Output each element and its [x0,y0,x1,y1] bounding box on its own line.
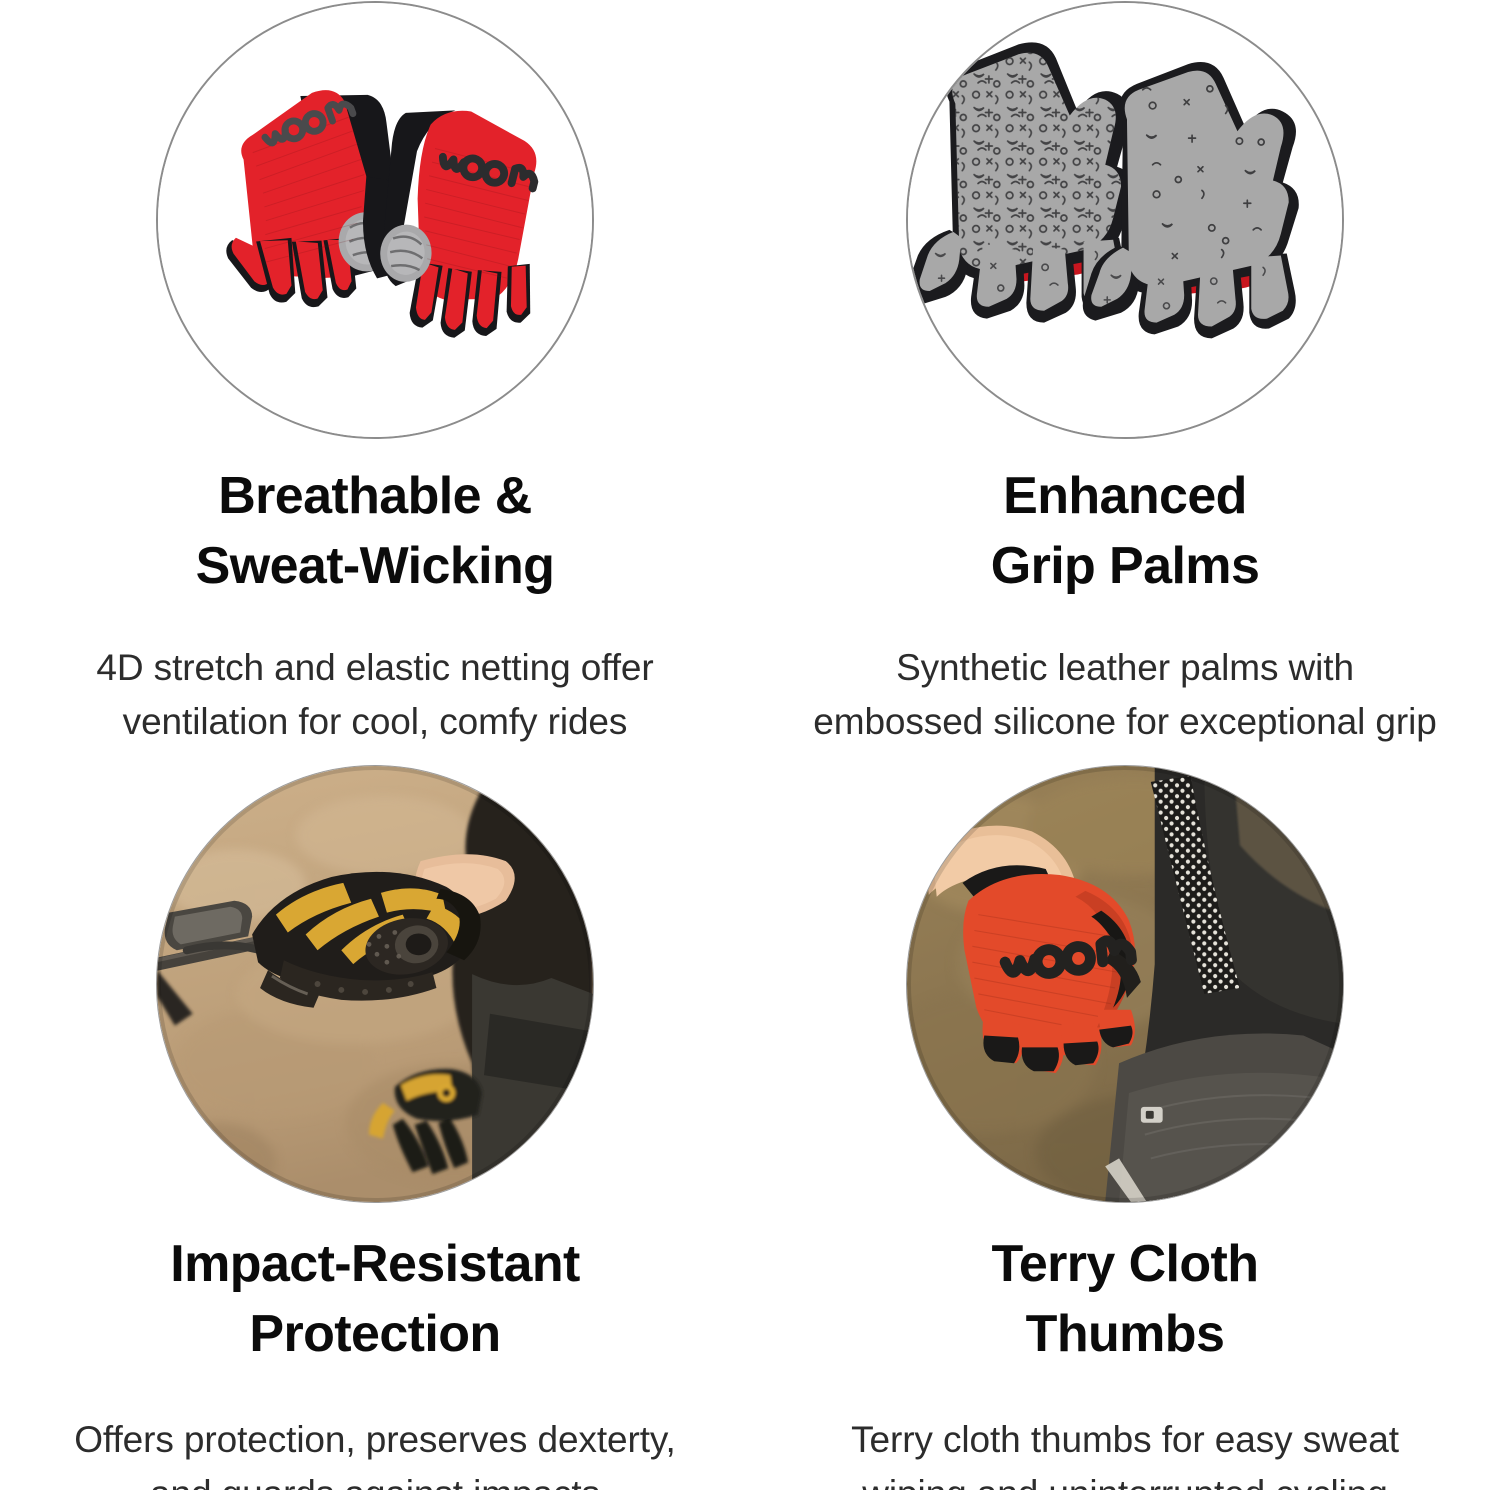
feature-card-breathable-sweat-wicking: Breathable & Sweat-Wicking 4D stretch an… [0,0,750,745]
feature-title: Terry Cloth Thumbs [992,1229,1259,1369]
feature-title: Enhanced Grip Palms [991,461,1260,601]
feature-title: Impact-Resistant Protection [170,1229,579,1369]
feature-description: Synthetic leather palms with embossed si… [813,641,1436,749]
red-glove-wiping-sweat-image [906,765,1344,1203]
feature-card-enhanced-grip-palms: Enhanced Grip Palms Synthetic leather pa… [750,0,1500,745]
gloved-hand-on-handlebar-image [156,765,594,1203]
feature-description: Terry cloth thumbs for easy sweat wiping… [851,1413,1399,1490]
feature-grid: Breathable & Sweat-Wicking 4D stretch an… [0,0,1500,1490]
feature-title: Breathable & Sweat-Wicking [196,461,555,601]
red-cycling-gloves-pair-image [156,1,594,439]
feature-description: 4D stretch and elastic netting offer ven… [96,641,653,749]
feature-card-impact-resistant-protection: Impact-Resistant Protection Offers prote… [0,745,750,1490]
feature-description: Offers protection, preserves dexterty, a… [74,1413,675,1490]
grey-silicone-palm-gloves-pair-image [906,1,1344,439]
feature-card-terry-cloth-thumbs: Terry Cloth Thumbs Terry cloth thumbs fo… [750,745,1500,1490]
